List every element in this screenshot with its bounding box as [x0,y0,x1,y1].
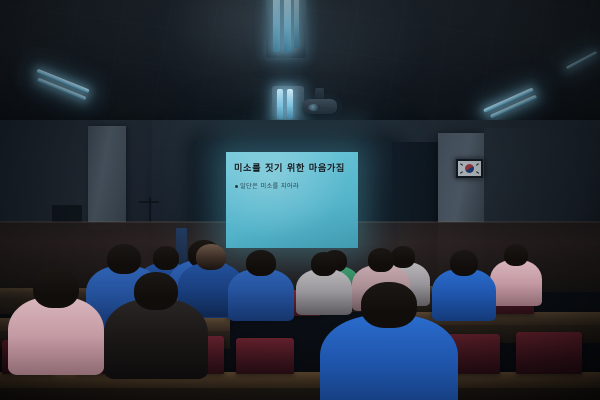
head [361,282,417,328]
slide-bullet-text: 일단은 미소를 지어라 [240,183,299,190]
head [33,268,79,308]
flag-face [458,161,481,176]
chair-mid-4 [236,338,294,374]
lecture-room-photo: 미소를 짓기 위한 마음가짐 일단은 미소를 지어라 [0,0,600,400]
korean-flag-taegukgi [455,158,484,179]
torso [8,297,104,375]
flag-taeguk-circle [465,164,474,173]
projector-lens-icon [308,104,320,111]
head [450,250,478,276]
head [311,252,337,276]
attendee-pink-far-right [490,244,542,312]
bullet-dot-icon [235,185,238,188]
torso [490,260,542,306]
head [134,272,178,310]
attendee-blue-right-of-cen [228,250,294,328]
light-fixture-center-mid [272,86,304,122]
torso [104,299,208,379]
projection-screen: 미소를 짓기 위한 마음가짐 일단은 미소를 지어라 [226,152,358,248]
head [368,248,394,272]
chair-mid-6 [516,332,582,374]
attendee-black-jacket [104,272,208,390]
slide-bullet-line: 일단은 미소를 지어라 [235,184,352,191]
torso [228,269,294,321]
attendee-blue-foreground [320,282,458,400]
light-fixture-center-front [266,0,306,58]
attendee-pink-front-left [8,268,104,386]
desk-row-front-front [0,388,600,400]
mic-arm [139,201,159,203]
wall-column-left [88,126,126,230]
head [196,244,226,270]
head [107,244,141,274]
slide-title: 미소를 짓기 위한 마음가짐 [234,164,352,175]
head [504,244,528,266]
head [246,250,276,276]
